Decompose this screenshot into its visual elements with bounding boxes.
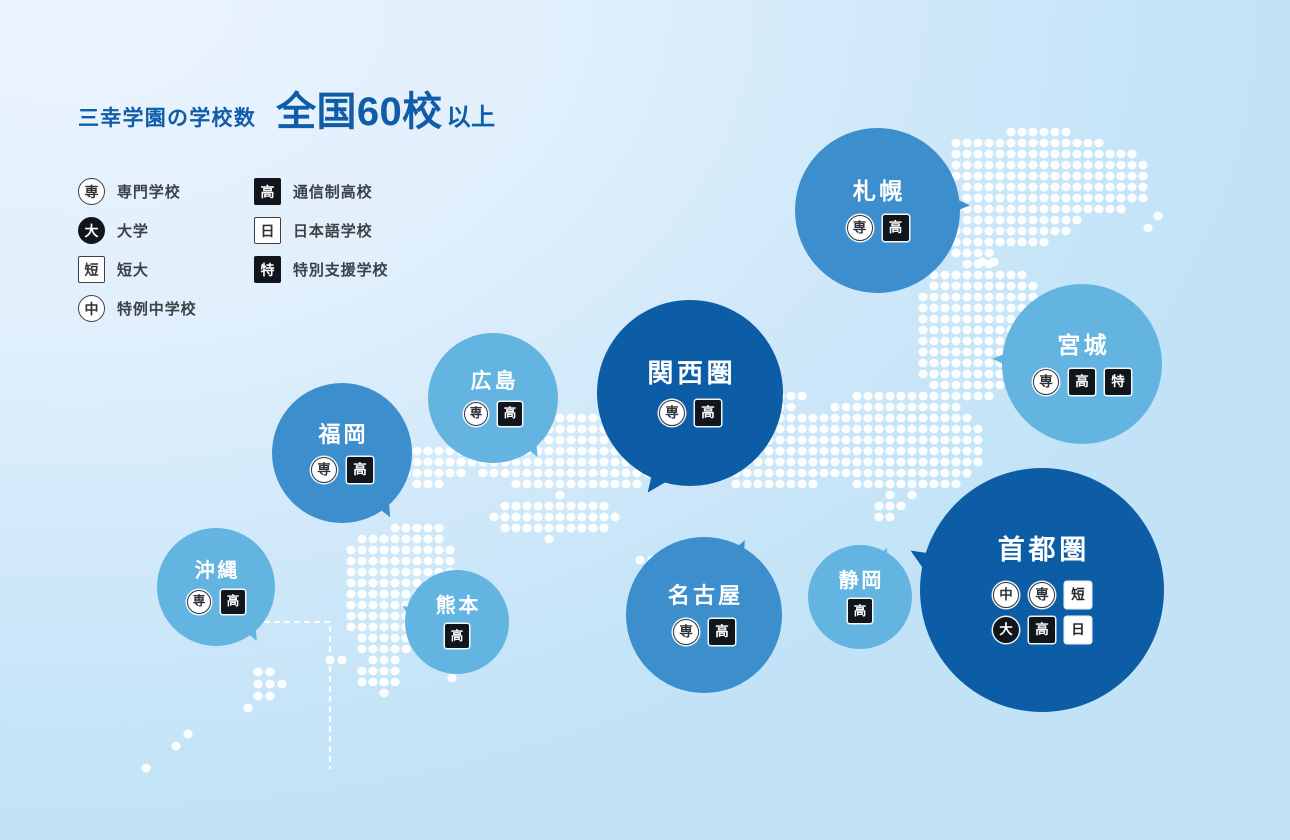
bubble-shizuoka[interactable]: 静岡高 xyxy=(808,545,912,649)
legend-tsushin: 高通信制高校 xyxy=(254,172,430,211)
bubble-badge-rows: 中専短大高日 xyxy=(993,582,1091,643)
bubble-badge-row: 専高 xyxy=(464,402,522,426)
legend-item-label: 日本語学校 xyxy=(293,220,373,241)
bubble-badge-row: 高 xyxy=(445,624,469,648)
bubble-fukuoka[interactable]: 福岡専高 xyxy=(272,383,412,523)
infographic-root: 三幸学園の学校数 全国60校 以上 専専門学校高通信制高校大大学日日本語学校短短… xyxy=(0,0,1290,840)
badge-高: 高 xyxy=(254,178,281,205)
badge-専: 専 xyxy=(1029,582,1055,608)
badge-短: 短 xyxy=(78,256,105,283)
page-header: 三幸学園の学校数 全国60校 以上 xyxy=(78,92,496,132)
bubble-title: 熊本 xyxy=(433,596,481,616)
legend-chugakko: 中特例中学校 xyxy=(78,289,254,328)
badge-日: 日 xyxy=(1065,617,1091,643)
badge-大: 大 xyxy=(993,617,1019,643)
badge-日: 日 xyxy=(254,217,281,244)
badge-専: 専 xyxy=(673,619,699,645)
legend-senmon: 専専門学校 xyxy=(78,172,254,211)
legend-item-label: 大学 xyxy=(117,220,149,241)
badge-高: 高 xyxy=(1069,369,1095,395)
bubble-badge-row: 大高日 xyxy=(993,617,1091,643)
bubble-badge-row: 専高 xyxy=(673,619,735,645)
bubble-title: 札幌 xyxy=(850,180,906,203)
badge-専: 専 xyxy=(311,457,337,483)
badge-特: 特 xyxy=(1105,369,1131,395)
badge-専: 専 xyxy=(659,400,685,426)
bubble-badge-row: 専高 xyxy=(187,590,245,614)
badge-専: 専 xyxy=(464,402,488,426)
bubble-hiroshima[interactable]: 広島専高 xyxy=(428,333,558,463)
bubble-badge-row: 専高 xyxy=(311,457,373,483)
legend-tokubetsu: 特特別支援学校 xyxy=(254,250,430,289)
bubble-okinawa[interactable]: 沖縄専高 xyxy=(157,528,275,646)
badge-中: 中 xyxy=(993,582,1019,608)
badge-専: 専 xyxy=(1033,369,1059,395)
bubble-title: 関西圏 xyxy=(644,360,737,386)
legend-item-label: 短大 xyxy=(117,259,149,280)
bubble-badge-row: 専高 xyxy=(847,215,909,241)
bubble-title: 名古屋 xyxy=(665,585,743,607)
bubble-nagoya[interactable]: 名古屋専高 xyxy=(626,537,782,693)
bubble-title: 福岡 xyxy=(315,424,368,446)
header-suffix: 以上 xyxy=(447,97,496,132)
bubble-badge-row: 専高特 xyxy=(1033,369,1131,395)
badge-専: 専 xyxy=(847,215,873,241)
bubble-badge-row: 高 xyxy=(848,599,872,623)
legend-daigaku: 大大学 xyxy=(78,211,254,250)
badge-高: 高 xyxy=(1029,617,1055,643)
badge-専: 専 xyxy=(78,178,105,205)
bubble-title: 首都圏 xyxy=(994,537,1090,564)
header-main: 全国60校 以上 xyxy=(276,92,495,132)
badge-高: 高 xyxy=(221,590,245,614)
bubble-sapporo[interactable]: 札幌専高 xyxy=(795,128,960,293)
okinawa-inset-frame xyxy=(265,622,330,768)
bubble-badge-row: 中専短 xyxy=(993,582,1091,608)
badge-短: 短 xyxy=(1065,582,1091,608)
badge-高: 高 xyxy=(883,215,909,241)
bubble-kansai[interactable]: 関西圏専高 xyxy=(597,300,783,486)
badge-高: 高 xyxy=(445,624,469,648)
badge-中: 中 xyxy=(78,295,105,322)
legend-tandai: 短短大 xyxy=(78,250,254,289)
badge-専: 専 xyxy=(187,590,211,614)
legend-item-label: 通信制高校 xyxy=(293,181,373,202)
bubble-shuto[interactable]: 首都圏中専短大高日 xyxy=(920,468,1164,712)
legend-item-label: 特例中学校 xyxy=(117,298,197,319)
bubble-title: 静岡 xyxy=(836,571,884,591)
bubble-title: 宮城 xyxy=(1054,334,1110,357)
badge-高: 高 xyxy=(498,402,522,426)
bubble-kumamoto[interactable]: 熊本高 xyxy=(405,570,509,674)
legend: 専専門学校高通信制高校大大学日日本語学校短短大特特別支援学校中特例中学校 xyxy=(78,172,430,328)
badge-高: 高 xyxy=(848,599,872,623)
badge-高: 高 xyxy=(695,400,721,426)
bubble-title: 広島 xyxy=(468,371,519,392)
legend-nihongo: 日日本語学校 xyxy=(254,211,430,250)
bubble-miyagi[interactable]: 宮城専高特 xyxy=(1002,284,1162,444)
badge-特: 特 xyxy=(254,256,281,283)
legend-item-label: 特別支援学校 xyxy=(293,259,388,280)
bubble-badge-row: 専高 xyxy=(659,400,721,426)
bubble-title: 沖縄 xyxy=(192,561,240,581)
badge-高: 高 xyxy=(347,457,373,483)
badge-高: 高 xyxy=(709,619,735,645)
legend-item-label: 専門学校 xyxy=(117,181,181,202)
badge-大: 大 xyxy=(78,217,105,244)
header-count: 全国60校 xyxy=(276,92,443,132)
header-lead: 三幸学園の学校数 xyxy=(78,102,256,132)
